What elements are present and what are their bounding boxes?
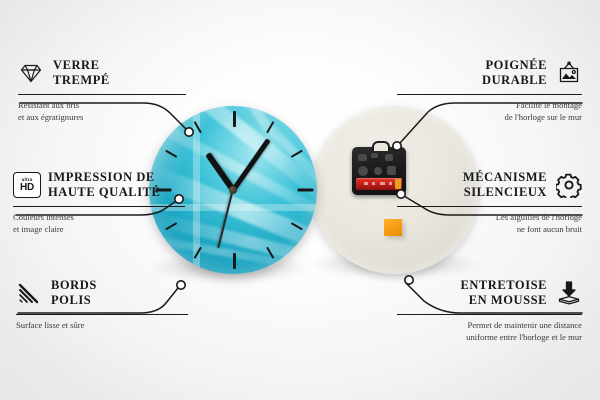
mechanism-detail	[374, 167, 382, 175]
mechanism-hanger-tab	[372, 141, 390, 151]
feature-mecanisme-silencieux: MÉCANISMESILENCIEUX Les aiguilles de l'h…	[397, 170, 582, 236]
mechanism-detail	[385, 154, 393, 161]
feature-title: BORDSPOLIS	[51, 278, 97, 309]
clock-tick	[298, 189, 314, 192]
feature-subtitle: Surface lisse et sûre	[16, 319, 201, 331]
divider	[16, 314, 188, 316]
feature-subtitle: Facilite le montage de l'horloge sur le …	[397, 99, 582, 123]
feature-poignee-durable: POIGNÉEDURABLE Facilite le montage de l'…	[397, 58, 582, 124]
feature-verre-trempe: VERRETREMPÉ Résistant aux bris et aux ég…	[18, 58, 203, 124]
battery-stripe	[380, 182, 385, 185]
clock-tick	[165, 150, 177, 158]
mechanism-detail	[358, 154, 367, 161]
mechanism-detail	[358, 166, 368, 176]
feature-subtitle: Permet de maintenir une distance uniform…	[397, 319, 582, 343]
foam-spacer-icon	[556, 280, 582, 306]
feature-entretoise-en-mousse: ENTRETOISEEN MOUSSE Permet de maintenir …	[397, 278, 582, 344]
battery-stripe	[372, 182, 375, 185]
ultra-hd-large-label: HD	[20, 183, 34, 193]
feature-title: ENTRETOISEEN MOUSSE	[460, 278, 547, 309]
feature-title: MÉCANISMESILENCIEUX	[463, 170, 547, 201]
feature-title: VERRETREMPÉ	[53, 58, 110, 89]
divider	[18, 94, 186, 96]
gear-icon	[556, 172, 582, 198]
feature-title: POIGNÉEDURABLE	[482, 58, 547, 89]
ultra-hd-icon: ultra HD	[13, 172, 39, 198]
divider	[397, 206, 582, 208]
feature-bords-polis: BORDSPOLIS Surface lisse et sûre	[16, 278, 201, 331]
divider	[13, 206, 185, 208]
feature-title: IMPRESSION DEHAUTE QUALITÉ	[48, 170, 160, 201]
mechanism-detail	[387, 166, 396, 175]
clock-tick	[233, 111, 236, 127]
battery-stripe	[389, 182, 392, 185]
battery-stripe	[364, 182, 368, 185]
clock-tick	[233, 253, 236, 269]
feature-subtitle: Résistant aux bris et aux égratignures	[18, 99, 203, 123]
feature-subtitle: Couleurs intenses et image claire	[13, 211, 198, 235]
divider	[397, 314, 582, 316]
feature-impression-haute-qualite: ultra HD IMPRESSION DEHAUTE QUALITÉ Coul…	[13, 170, 198, 236]
divider	[397, 94, 582, 96]
mechanism-detail	[371, 153, 378, 158]
feature-subtitle: Les aiguilles de l'horloge ne font aucun…	[397, 211, 582, 235]
polished-edges-icon	[16, 280, 42, 306]
clock-center-cap	[229, 186, 237, 194]
diamond-icon	[18, 60, 44, 86]
battery	[356, 178, 402, 190]
infographic-canvas: VERRETREMPÉ Résistant aux bris et aux ég…	[0, 0, 600, 400]
hanging-frame-icon	[556, 60, 582, 86]
